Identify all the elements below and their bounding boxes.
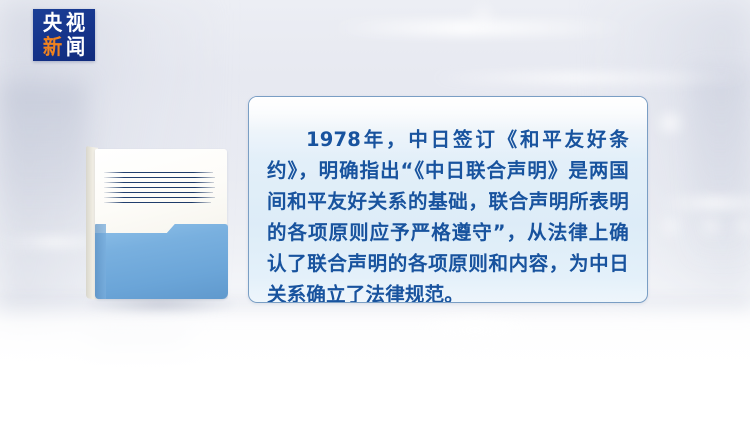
background-light-streak-upper — [430, 72, 750, 84]
background-bokeh-a — [655, 112, 685, 134]
background-bokeh-c — [700, 218, 722, 234]
document-text-line — [104, 192, 213, 193]
document-text-line — [104, 172, 213, 173]
background-pillar-left — [0, 82, 86, 232]
background-light-streak-mid — [660, 196, 750, 210]
quote-panel: 1978年，中日签订《和平友好条约》，明确指出“《中日联合声明》是两国间和平友好… — [248, 96, 648, 303]
logo-char-xin: 新 — [42, 37, 63, 58]
document-text-line — [104, 182, 214, 183]
logo-char-wen: 闻 — [65, 37, 86, 58]
document-text-line — [104, 197, 215, 198]
quote-panel-body: 1978年，中日签订《和平友好条约》，明确指出“《中日联合声明》是两国间和平友好… — [249, 97, 647, 303]
logo-line-bottom: 新 闻 — [41, 37, 87, 58]
background-bokeh-b — [660, 218, 682, 234]
document-folder-front — [95, 224, 228, 299]
quote-panel-text: 1978年，中日签订《和平友好条约》，明确指出“《中日联合声明》是两国间和平友好… — [267, 124, 629, 303]
cctv-news-logo: 央 视 新 闻 — [33, 9, 95, 61]
logo-char-shi: 视 — [65, 13, 86, 34]
document-text-line — [104, 187, 215, 188]
document-folder-icon — [78, 136, 238, 311]
logo-char-yang: 央 — [42, 13, 63, 34]
background-floor — [0, 296, 750, 422]
document-text-line — [104, 177, 215, 178]
background-bokeh-e — [470, 6, 496, 24]
screenshot-root: 央 视 新 闻 1978年，中日签订《和平友好条约》，明确指出“《中日联合声明》… — [0, 0, 750, 422]
logo-line-top: 央 视 — [41, 13, 87, 34]
document-folder-left-edge — [95, 224, 106, 299]
background-floor-glow — [400, 318, 550, 342]
document-text-line — [104, 202, 211, 203]
document-text-lines — [104, 172, 215, 206]
background-bokeh-d — [734, 218, 750, 234]
